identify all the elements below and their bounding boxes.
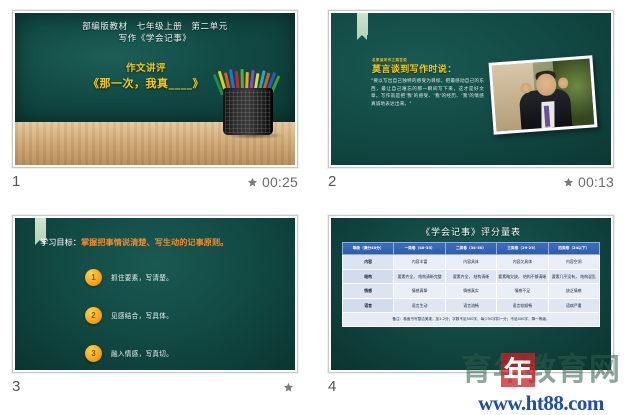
list-item: 2 见感结合，写具体。 (85, 304, 173, 326)
slide-cell-1[interactable]: 部编版教材 七年级上册 第二单元 写作《学会记事》 作文讲评 《那一次，我真__… (0, 0, 314, 205)
list-item: 1 抓住要素，写清楚。 (85, 266, 173, 288)
table-column-header: 四类卷（24以下） (548, 243, 599, 255)
badge-number: 3 (85, 345, 102, 362)
rubric-table: 等级（满分40分） 一类卷（40-35） 二类卷（34-30） 三类卷（29-2… (342, 242, 600, 327)
table-cell: 内容欠具体 (497, 255, 548, 269)
table-row: 语言 语言生动 语言流畅 语言较顺畅 语病严重 (343, 298, 600, 312)
slide-canvas-2: 名家谈写作之莫言说 莫言谈到写作时说： "要以写出自己独特的感受为目标。把最感动… (331, 13, 611, 165)
slide-cell-2[interactable]: 名家谈写作之莫言说 莫言谈到写作时说： "要以写出自己独特的感受为目标。把最感动… (314, 0, 627, 205)
slide1-title-line2: 写作《学会记事》 (15, 33, 295, 45)
slide-thumbnail-grid: 部编版教材 七年级上册 第二单元 写作《学会记事》 作文讲评 《那一次，我真__… (0, 0, 627, 415)
slide3-heading: 学习目标：掌握把事情说清楚、写生动的记事原则。 (40, 236, 287, 248)
table-cell: 情感不足 (497, 284, 548, 298)
star-icon[interactable] (247, 177, 258, 188)
slide-number-4: 4 (328, 377, 336, 397)
table-cell: 语言流畅 (445, 298, 496, 312)
writer-photo-inner (492, 58, 595, 131)
ribbon-decoration (357, 13, 368, 35)
slide-meta-right-3 (283, 377, 298, 397)
table-row: 情感 情感真挚 情感真实 情感不足 缺乏情感 (343, 284, 600, 298)
slide-canvas-1: 部编版教材 七年级上册 第二单元 写作《学会记事》 作文讲评 《那一次，我真__… (15, 13, 295, 165)
writer-photo (489, 55, 598, 134)
table-cell: 语言较顺畅 (497, 298, 548, 312)
slide-meta-right-2: 00:13 (563, 172, 614, 192)
table-cell: 语病严重 (548, 298, 599, 312)
table-cell: 情感真实 (445, 284, 496, 298)
slide1-subtitle-line2: 《那一次，我真____》 (15, 76, 277, 91)
slide-canvas-3: 学习目标：掌握把事情说清楚、写生动的记事原则。 1 抓住要素，写清楚。 2 见感… (15, 218, 295, 370)
slide1-title-line1: 部编版教材 七年级上册 第二单元 (15, 21, 295, 33)
badge-number: 2 (85, 307, 102, 324)
table-column-header: 三类卷（29-25） (497, 243, 548, 255)
slide-thumbnail-4[interactable]: 《学会记事》评分量表 等级（满分40分） 一类卷（40-35） 二类卷（34-3… (328, 215, 614, 373)
table-column-header: 二类卷（34-30） (445, 243, 496, 255)
slide-number-2: 2 (328, 172, 336, 192)
table-row-label: 结构 (343, 269, 394, 283)
slide1-title: 部编版教材 七年级上册 第二单元 写作《学会记事》 (15, 21, 295, 45)
star-icon[interactable] (283, 382, 294, 393)
slide3-heading-highlight: 掌握把事情说清楚、写生动的记事原则。 (81, 237, 228, 247)
table-row-label: 内容 (343, 255, 394, 269)
slide-number-3: 3 (12, 377, 20, 397)
slide2-eyebrow: 名家谈写作之莫言说 (372, 58, 407, 63)
list-item-label: 融入情感，写真切。 (111, 348, 173, 358)
slide-meta-1: 1 00:25 (12, 172, 298, 194)
table-column-header: 等级（满分40分） (343, 243, 394, 255)
slide-cell-3[interactable]: 学习目标：掌握把事情说清楚、写生动的记事原则。 1 抓住要素，写清楚。 2 见感… (0, 205, 314, 415)
slide-canvas-4: 《学会记事》评分量表 等级（满分40分） 一类卷（40-35） 二类卷（34-3… (331, 218, 611, 370)
slide-duration-2: 00:13 (578, 172, 614, 192)
slide-thumbnail-1[interactable]: 部编版教材 七年级上册 第二单元 写作《学会记事》 作文讲评 《那一次，我真__… (12, 10, 298, 168)
slide-meta-2: 2 00:13 (328, 172, 614, 194)
table-note: 备注：卷面书写整洁美观，加1-2分；字数不足500字，每少50字扣一分；不足40… (343, 313, 600, 327)
table-note-row: 备注：卷面书写整洁美观，加1-2分；字数不足500字，每少50字扣一分；不足40… (343, 313, 600, 327)
mesh-cup-graphic (223, 88, 273, 135)
objectives-list: 1 抓住要素，写清楚。 2 见感结合，写具体。 3 融入情感，写真切。 (85, 266, 173, 370)
star-icon[interactable] (563, 177, 574, 188)
table-header-row: 等级（满分40分） 一类卷（40-35） 二类卷（34-30） 三类卷（29-2… (343, 243, 600, 255)
table-column-header: 一类卷（40-35） (394, 243, 445, 255)
slide-thumbnail-3[interactable]: 学习目标：掌握把事情说清楚、写生动的记事原则。 1 抓住要素，写清楚。 2 见感… (12, 215, 298, 373)
slide-meta-3: 3 (12, 377, 298, 399)
slide-meta-right-4 (599, 377, 614, 397)
slide4-title: 《学会记事》评分量表 (331, 225, 611, 238)
slide1-subtitle: 作文讲评 《那一次，我真____》 (15, 61, 277, 91)
slide2-heading: 莫言谈到写作时说： (372, 64, 457, 76)
table-row: 结构 要素齐全， 结构清晰完整 要素齐全， 结构清晰 要素略欠缺， 结构不够清晰… (343, 269, 600, 283)
table-cell: 要素略欠缺， 结构不够清晰 (497, 269, 548, 283)
table-cell: 要素齐全， 结构清晰 (445, 269, 496, 283)
slide-duration-1: 00:25 (262, 172, 298, 192)
slide-meta-right-1: 00:25 (247, 172, 298, 192)
rubric-table-wrap: 等级（满分40分） 一类卷（40-35） 二类卷（34-30） 三类卷（29-2… (342, 242, 600, 327)
table-cell: 情感真挚 (394, 284, 445, 298)
table-row-label: 情感 (343, 284, 394, 298)
table-cell: 语言生动 (394, 298, 445, 312)
list-item: 3 融入情感，写真切。 (85, 342, 173, 364)
table-cell: 缺乏情感 (548, 284, 599, 298)
table-cell: 内容空洞 (548, 255, 599, 269)
list-item-label: 见感结合，写具体。 (111, 310, 173, 320)
table-cell: 要素齐全， 结构清晰完整 (394, 269, 445, 283)
slide-number-1: 1 (12, 172, 20, 192)
table-cell: 要素几乎没有， 结构混乱 (548, 269, 599, 283)
table-row: 内容 内容丰富 内容具体 内容欠具体 内容空洞 (343, 255, 600, 269)
table-cell: 内容丰富 (394, 255, 445, 269)
slide2-quote: "要以写出自己独特的感受为目标。把最感动自己的东西，最让自己难忘的那一瞬间写下来… (371, 78, 484, 108)
slide1-subtitle-line1: 作文讲评 (15, 61, 277, 76)
table-cell: 内容具体 (445, 255, 496, 269)
slide-meta-4: 4 (328, 377, 614, 399)
table-row-label: 语言 (343, 298, 394, 312)
slide3-heading-label: 学习目标： (40, 237, 81, 247)
list-item-label: 抓住要素，写清楚。 (111, 272, 173, 282)
badge-number: 1 (85, 269, 102, 286)
slide-thumbnail-2[interactable]: 名家谈写作之莫言说 莫言谈到写作时说： "要以写出自己独特的感受为目标。把最感动… (328, 10, 614, 168)
slide-cell-4[interactable]: 《学会记事》评分量表 等级（满分40分） 一类卷（40-35） 二类卷（34-3… (314, 205, 627, 415)
